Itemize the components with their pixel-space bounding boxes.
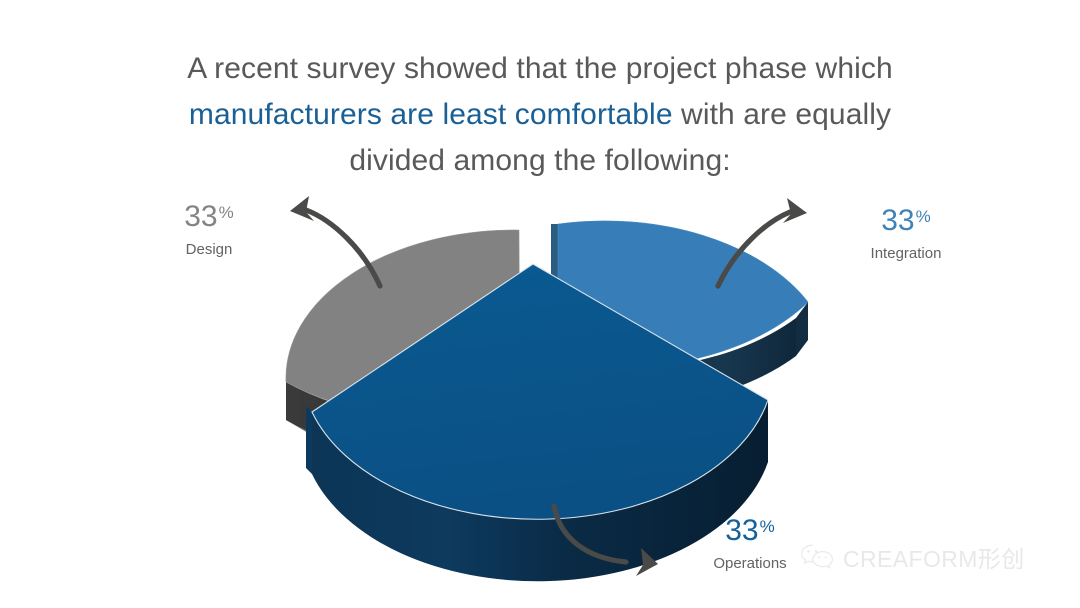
slice-operations-left-wall [306,406,312,474]
callout-operations-number: 33 [725,514,758,547]
callout-design: 33% Design [124,196,294,261]
slide-canvas: A recent survey showed that the project … [0,0,1080,608]
pie-chart: 33% Design 33% Integration 33% Operation… [0,0,1080,608]
callout-integration: 33% Integration [821,200,991,265]
wechat-icon [800,543,834,571]
arrow-integration-head [783,198,807,223]
callout-design-number: 33 [184,200,217,233]
percent-sign-icon: % [219,203,234,222]
callout-design-value: 33% [124,196,294,234]
watermark: CREAFORM形创 [800,540,1025,574]
percent-sign-icon: % [760,517,775,536]
callout-design-caption: Design [124,239,294,261]
callout-integration-caption: Integration [821,243,991,265]
callout-integration-number: 33 [881,204,914,237]
watermark-text: CREAFORM形创 [843,540,1025,574]
percent-sign-icon: % [916,207,931,226]
callout-integration-value: 33% [821,200,991,238]
